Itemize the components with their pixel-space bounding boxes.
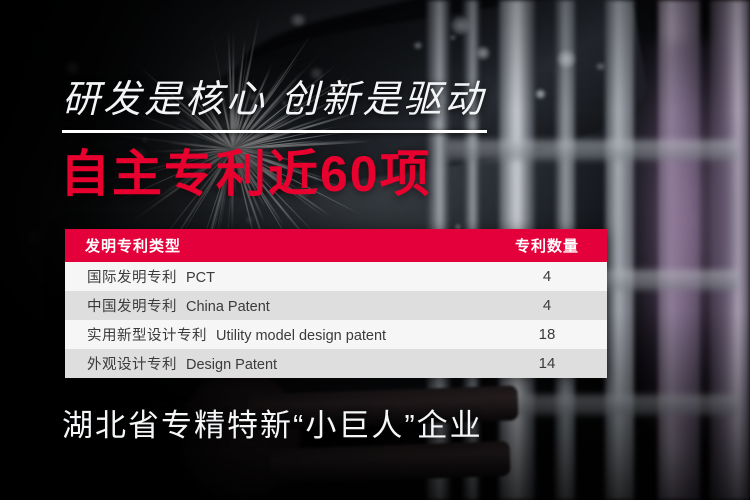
table-cell-type-zh: 外观设计专利 xyxy=(87,357,177,373)
table-cell-count: 14 xyxy=(487,355,607,372)
headline-divider-rule xyxy=(62,130,487,133)
banner-content: 研发是核心 创新是驱动 自主专利近60项 发明专利类型 专利数量 国际发明专利P… xyxy=(0,0,750,500)
table-cell-type: 实用新型设计专利Utility model design patent xyxy=(65,324,487,345)
table-cell-type: 国际发明专利PCT xyxy=(65,266,487,287)
table-cell-type-en: PCT xyxy=(186,270,215,286)
table-row: 中国发明专利China Patent 4 xyxy=(65,291,607,320)
table-cell-type: 中国发明专利China Patent xyxy=(65,295,487,316)
table-row: 外观设计专利Design Patent 14 xyxy=(65,349,607,378)
headline-primary: 研发是核心 创新是驱动 xyxy=(62,80,486,122)
banner-caption: 湖北省专精特新“小巨人”企业 xyxy=(62,400,483,445)
patent-banner: 研发是核心 创新是驱动 自主专利近60项 发明专利类型 专利数量 国际发明专利P… xyxy=(0,0,750,500)
table-cell-type-en: Utility model design patent xyxy=(216,328,386,344)
table-header-count: 专利数量 xyxy=(487,235,607,256)
table-row: 实用新型设计专利Utility model design patent 18 xyxy=(65,320,607,349)
table-cell-type-zh: 国际发明专利 xyxy=(87,270,177,286)
table-cell-type-zh: 实用新型设计专利 xyxy=(87,328,207,344)
table-header-type: 发明专利类型 xyxy=(65,235,487,256)
table-cell-count: 4 xyxy=(487,268,607,285)
headline-secondary: 自主专利近60项 xyxy=(60,146,432,202)
table-row: 国际发明专利PCT 4 xyxy=(65,262,607,291)
table-cell-type-en: Design Patent xyxy=(186,357,277,373)
table-cell-count: 18 xyxy=(487,326,607,343)
table-cell-type-zh: 中国发明专利 xyxy=(87,299,177,315)
table-cell-type-en: China Patent xyxy=(186,299,270,315)
patent-table: 发明专利类型 专利数量 国际发明专利PCT 4 中国发明专利China Pate… xyxy=(65,229,607,378)
table-cell-count: 4 xyxy=(487,297,607,314)
table-cell-type: 外观设计专利Design Patent xyxy=(65,353,487,374)
table-header-row: 发明专利类型 专利数量 xyxy=(65,229,607,262)
